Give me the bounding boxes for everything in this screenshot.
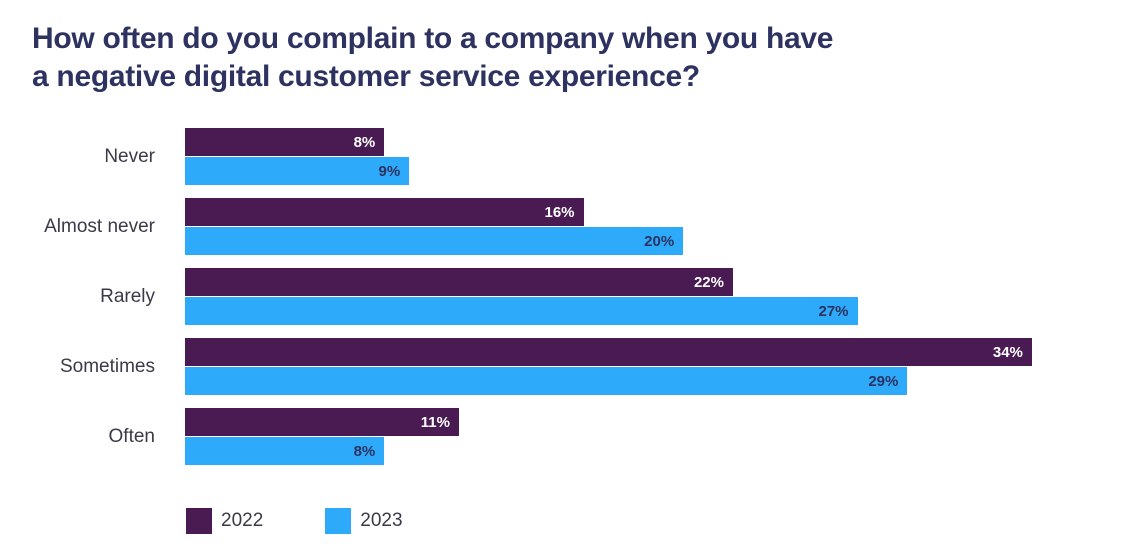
bar-2023: 8% <box>185 437 384 465</box>
bar-value-label: 34% <box>993 344 1023 361</box>
bar-value-label: 27% <box>819 303 849 320</box>
bar-2022: 11% <box>185 408 459 436</box>
legend-label: 2023 <box>360 510 402 532</box>
bar-2022: 16% <box>185 198 584 226</box>
legend-label: 2022 <box>221 510 263 532</box>
category-label: Rarely <box>0 268 155 326</box>
bar-pair: 34%29% <box>185 338 1144 396</box>
bar-value-label: 8% <box>354 443 376 460</box>
bar-2022: 22% <box>185 268 733 296</box>
bar-2023: 20% <box>185 227 683 255</box>
category-label: Never <box>0 128 155 186</box>
bar-value-label: 9% <box>378 163 400 180</box>
bar-pair: 11%8% <box>185 408 1144 466</box>
legend-item-2023[interactable]: 2023 <box>325 508 402 534</box>
legend-item-2022[interactable]: 2022 <box>186 508 263 534</box>
bar-value-label: 16% <box>545 204 575 221</box>
category-label: Almost never <box>0 198 155 256</box>
category-label: Often <box>0 408 155 466</box>
bar-value-label: 11% <box>421 414 450 431</box>
bar-value-label: 20% <box>644 233 674 250</box>
bar-2023: 29% <box>185 367 907 395</box>
bar-value-label: 22% <box>694 274 724 291</box>
bar-group: Rarely22%27% <box>0 268 1144 326</box>
bar-group: Often11%8% <box>0 408 1144 466</box>
bar-pair: 22%27% <box>185 268 1144 326</box>
bar-group: Sometimes34%29% <box>0 338 1144 396</box>
bar-value-label: 8% <box>354 134 376 151</box>
bar-group: Never8%9% <box>0 128 1144 186</box>
bar-2023: 9% <box>185 157 409 185</box>
bar-pair: 8%9% <box>185 128 1144 186</box>
bar-chart-plot-area: Never8%9%Almost never16%20%Rarely22%27%S… <box>0 128 1144 478</box>
legend-swatch-icon <box>186 508 212 534</box>
chart-legend: 20222023 <box>186 506 465 536</box>
bar-2022: 8% <box>185 128 384 156</box>
bar-2023: 27% <box>185 297 858 325</box>
chart-page: How often do you complain to a company w… <box>0 0 1144 550</box>
category-label: Sometimes <box>0 338 155 396</box>
bar-2022: 34% <box>185 338 1032 366</box>
chart-title: How often do you complain to a company w… <box>32 20 1092 96</box>
bar-group: Almost never16%20% <box>0 198 1144 256</box>
bar-pair: 16%20% <box>185 198 1144 256</box>
bar-value-label: 29% <box>868 373 898 390</box>
legend-swatch-icon <box>325 508 351 534</box>
